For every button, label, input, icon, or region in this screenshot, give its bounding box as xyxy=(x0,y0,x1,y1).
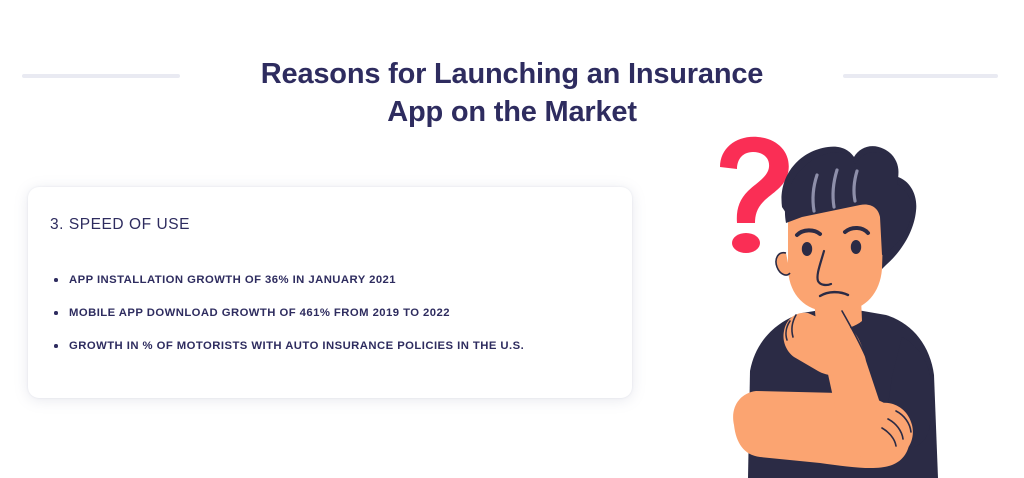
bullet-dot-icon xyxy=(54,278,58,282)
bullet-dot-icon xyxy=(54,311,58,315)
list-item-label: APP INSTALLATION GROWTH OF 36% IN JANUAR… xyxy=(69,274,396,286)
info-card: 3. SPEED OF USE APP INSTALLATION GROWTH … xyxy=(28,187,632,398)
list-item-label: MOBILE APP DOWNLOAD GROWTH OF 461% FROM … xyxy=(69,307,450,319)
question-mark-icon xyxy=(720,137,789,253)
bullet-dot-icon xyxy=(54,344,58,348)
ear-shape xyxy=(776,253,790,275)
eye-right xyxy=(851,240,861,254)
page-header: Reasons for Launching an Insurance App o… xyxy=(0,0,1024,130)
thinking-person-illustration xyxy=(690,125,960,478)
list-item: GROWTH IN % OF MOTORISTS WITH AUTO INSUR… xyxy=(50,339,610,354)
page-title-line-1: Reasons for Launching an Insurance xyxy=(0,55,1024,93)
card-heading: 3. SPEED OF USE xyxy=(50,216,190,234)
eye-left xyxy=(802,242,812,256)
list-item-label: GROWTH IN % OF MOTORISTS WITH AUTO INSUR… xyxy=(69,340,524,352)
list-item: MOBILE APP DOWNLOAD GROWTH OF 461% FROM … xyxy=(50,306,610,321)
page-title: Reasons for Launching an Insurance App o… xyxy=(0,55,1024,131)
card-bullet-list: APP INSTALLATION GROWTH OF 36% IN JANUAR… xyxy=(50,273,610,354)
list-item: APP INSTALLATION GROWTH OF 36% IN JANUAR… xyxy=(50,273,610,288)
